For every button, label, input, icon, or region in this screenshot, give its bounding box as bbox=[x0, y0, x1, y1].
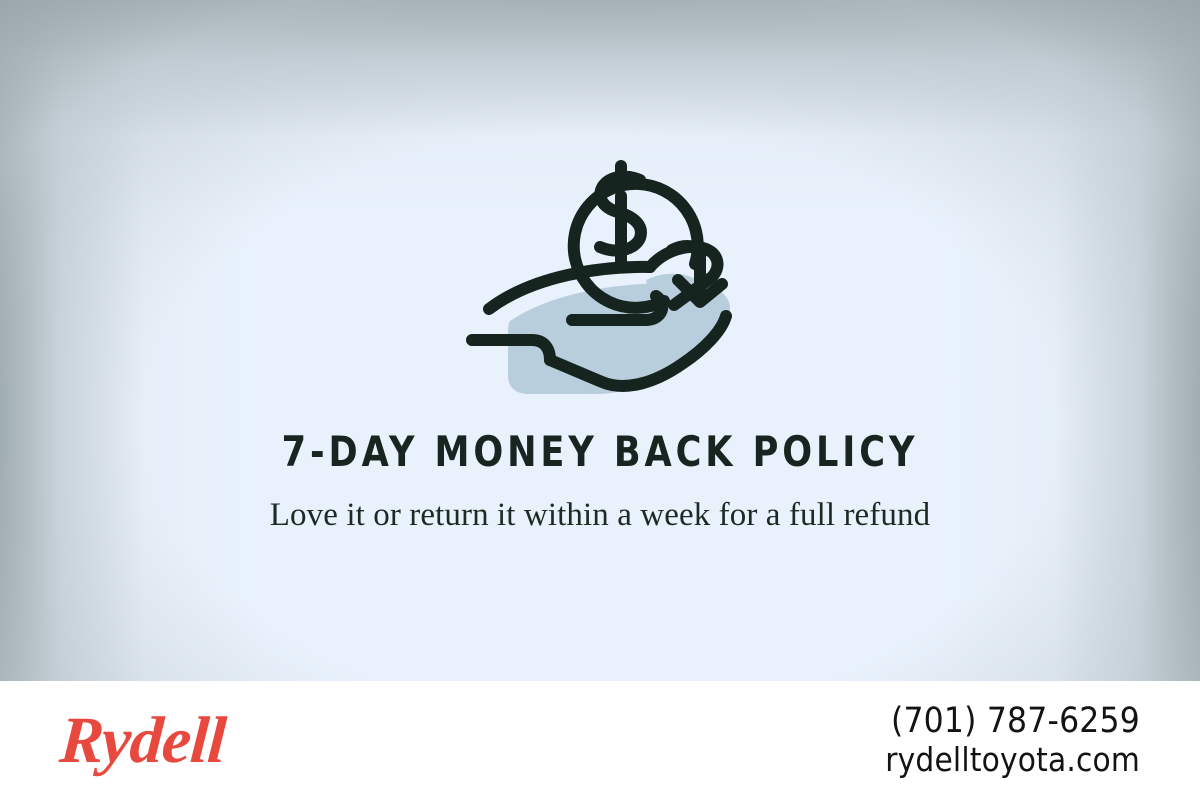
dollar-sign bbox=[600, 166, 641, 264]
money-back-policy-promo-card: 7-DAY MONEY BACK POLICY Love it or retur… bbox=[0, 0, 1200, 800]
icon-container bbox=[0, 148, 1200, 398]
hero-panel: 7-DAY MONEY BACK POLICY Love it or retur… bbox=[0, 0, 1200, 681]
contact-info: (701) 787-6259 rydelltoyota.com bbox=[885, 702, 1140, 778]
page-title: 7-DAY MONEY BACK POLICY bbox=[42, 430, 1158, 474]
footer-bar: Rydell (701) 787-6259 rydelltoyota.com bbox=[0, 681, 1200, 800]
money-back-hand-icon bbox=[450, 144, 750, 402]
page-subtitle: Love it or return it within a week for a… bbox=[250, 494, 950, 536]
phone-number[interactable]: (701) 787-6259 bbox=[885, 702, 1140, 741]
website-url[interactable]: rydelltoyota.com bbox=[885, 742, 1140, 779]
brand-logo[interactable]: Rydell bbox=[58, 708, 228, 774]
